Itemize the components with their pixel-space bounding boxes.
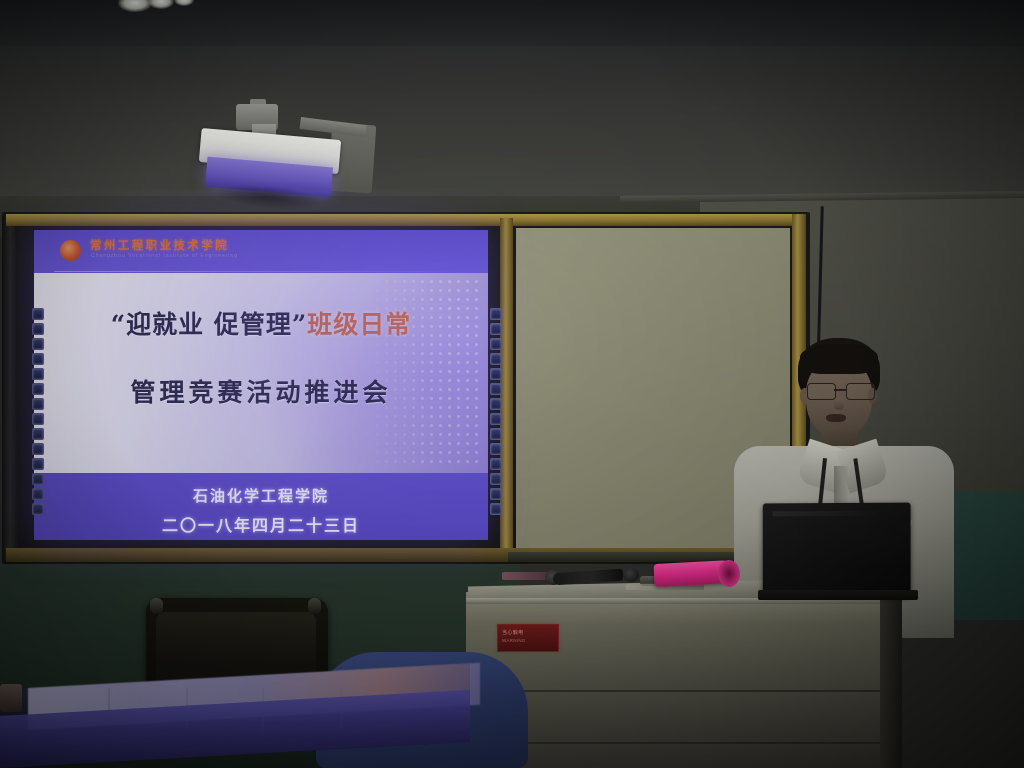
redo-icon[interactable] <box>490 443 502 455</box>
highlighter-icon[interactable] <box>490 368 502 380</box>
presenter-mouth <box>826 414 846 422</box>
iwb-toolbar-right[interactable] <box>489 308 502 515</box>
chair-knob-right <box>308 598 321 614</box>
highlighter-icon[interactable] <box>32 368 44 380</box>
shape-icon[interactable] <box>490 398 502 410</box>
lectern-seam-1 <box>470 690 882 692</box>
slide-title-line1: “迎就业 促管理”班级日常 <box>34 305 488 341</box>
keyboard-icon[interactable] <box>490 473 502 485</box>
lectern-seam-2 <box>470 742 882 744</box>
settings-icon[interactable] <box>490 503 502 515</box>
slide-footer-date: 二〇一八年四月二十三日 <box>34 512 488 536</box>
undo-icon[interactable] <box>490 428 502 440</box>
presenter-nose <box>834 398 844 410</box>
slide-header-rule <box>54 271 464 272</box>
glasses-icon <box>806 383 874 399</box>
new-page-icon[interactable] <box>490 308 502 320</box>
slide-title-quoted: “迎就业 促管理” <box>111 310 307 339</box>
iwb-toolbar-left[interactable] <box>31 308 44 515</box>
select-icon[interactable] <box>490 413 502 425</box>
glasses-lens-right <box>846 383 875 400</box>
screenshot-icon[interactable] <box>490 488 502 500</box>
second-microphone-head[interactable] <box>623 568 639 582</box>
classroom-photo: 常州工程职业技术学院 Changzhou Vocational Institut… <box>0 0 1024 768</box>
text-icon[interactable] <box>32 458 44 470</box>
new-page-icon[interactable] <box>32 308 44 320</box>
cup-on-table <box>0 684 22 712</box>
shape-icon[interactable] <box>32 398 44 410</box>
save-icon[interactable] <box>32 323 44 335</box>
redo-icon[interactable] <box>32 443 44 455</box>
screenshot-icon[interactable] <box>32 488 44 500</box>
open-icon[interactable] <box>490 338 502 350</box>
save-icon[interactable] <box>490 323 502 335</box>
university-name-cn: 常州工程职业技术学院 <box>90 237 229 253</box>
university-emblem-icon <box>60 240 81 261</box>
pink-paper <box>502 572 548 580</box>
text-icon[interactable] <box>490 458 502 470</box>
laptop-hinge <box>758 590 918 600</box>
presenter-fringe <box>800 344 878 374</box>
presenter-laptop[interactable] <box>763 503 911 596</box>
chair-knob-left <box>150 598 163 614</box>
open-icon[interactable] <box>32 338 44 350</box>
glasses-lens-left <box>807 383 836 400</box>
undo-icon[interactable] <box>32 428 44 440</box>
warning-sticker-line1: 当心触电 <box>502 629 524 636</box>
lectern-side-panel <box>880 600 902 768</box>
keyboard-icon[interactable] <box>32 473 44 485</box>
projection-screen[interactable]: 常州工程职业技术学院 Changzhou Vocational Institut… <box>34 230 488 540</box>
board-frame-left <box>2 216 18 560</box>
slide-footer-org: 石油化学工程学院 <box>34 485 488 506</box>
slide-footer: 石油化学工程学院 二〇一八年四月二十三日 <box>34 473 488 540</box>
warning-sticker-line2: WARNING <box>502 638 526 643</box>
select-icon[interactable] <box>32 413 44 425</box>
warning-sticker: 当心触电 WARNING <box>497 624 559 652</box>
eraser-icon[interactable] <box>32 383 44 395</box>
glasses-bridge <box>834 389 846 391</box>
pen-icon[interactable] <box>490 353 502 365</box>
eraser-icon[interactable] <box>490 383 502 395</box>
laptop-lid-sheen <box>773 511 883 517</box>
slide-title-line2-text: 管理竞赛活动推进会 <box>130 378 391 407</box>
pen-icon[interactable] <box>32 353 44 365</box>
slide-title-line2: 管理竞赛活动推进会 <box>34 373 488 409</box>
board-frame-top <box>6 214 806 226</box>
slide-body: “迎就业 促管理”班级日常 管理竞赛活动推进会 <box>34 273 488 473</box>
settings-icon[interactable] <box>32 503 44 515</box>
university-name-en: Changzhou Vocational Institute of Engine… <box>91 253 238 259</box>
slide-title-suffix: 班级日常 <box>307 310 411 339</box>
